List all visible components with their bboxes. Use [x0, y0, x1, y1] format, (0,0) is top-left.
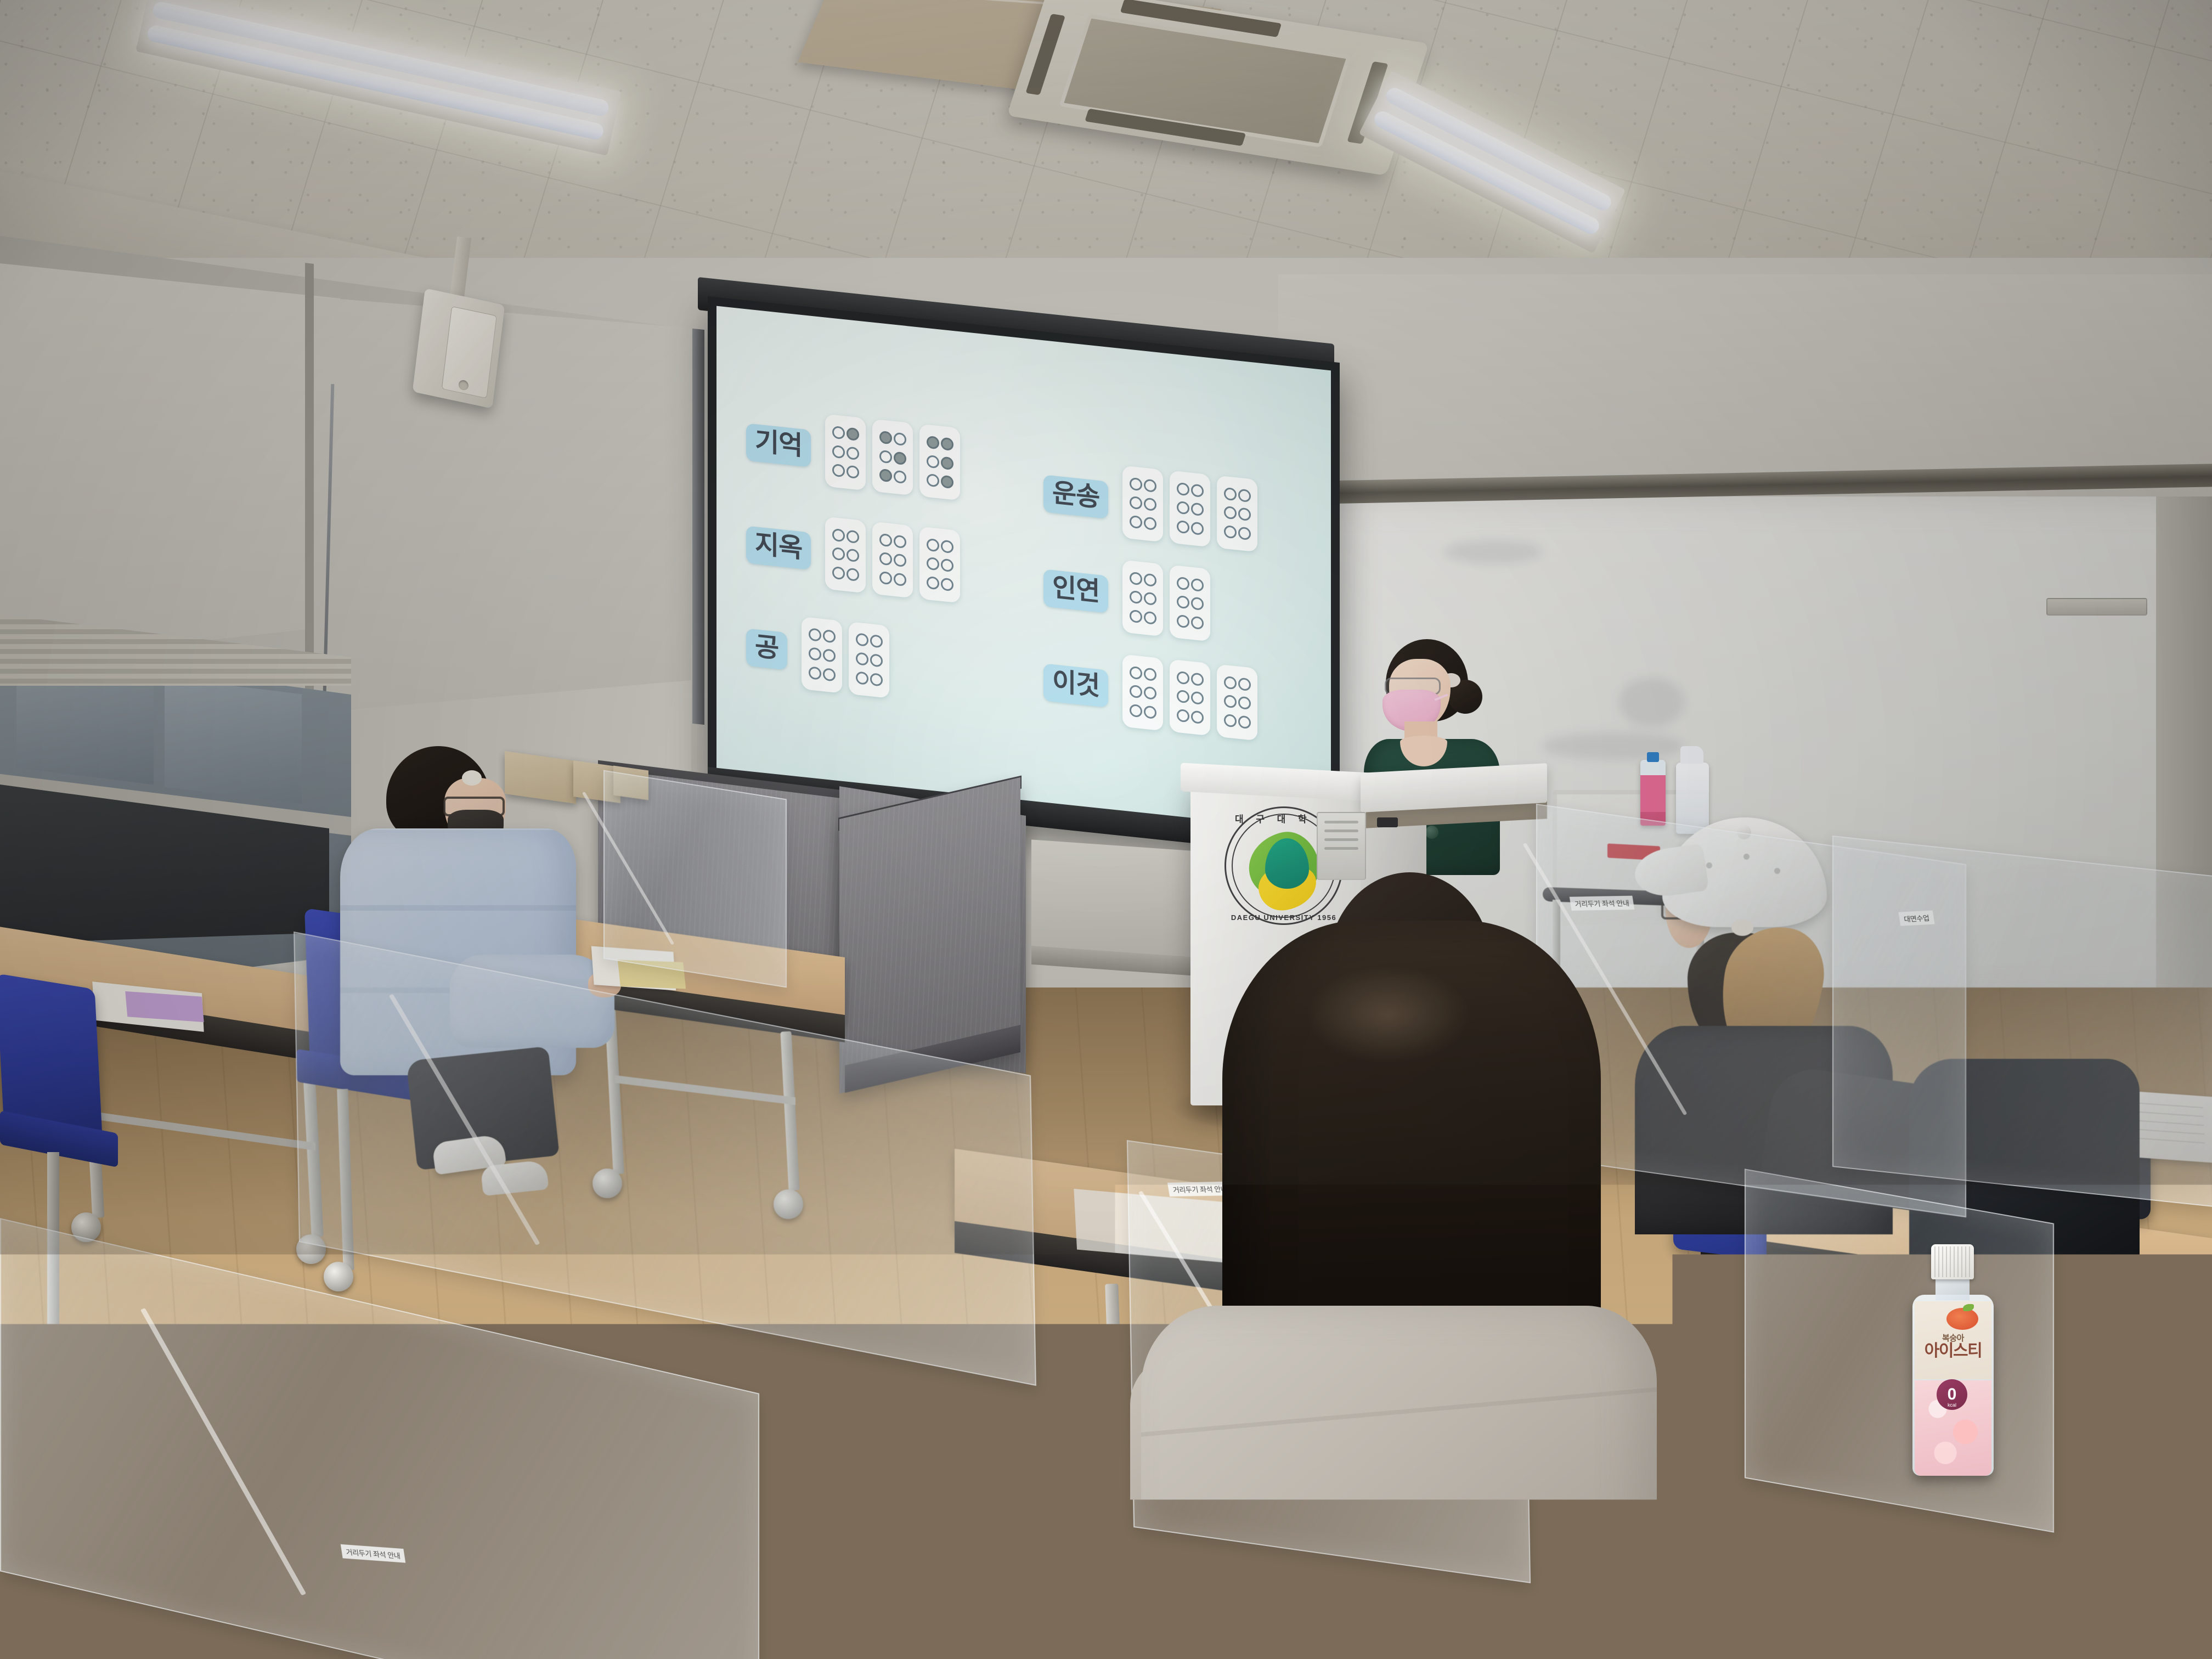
sanitizer-nozzle[interactable]: [1680, 746, 1703, 764]
braille-dot-5: [847, 549, 859, 562]
braille-dot-5: [1191, 503, 1204, 516]
braille-dot-2: [1130, 590, 1142, 604]
word-label: 인연: [1043, 569, 1108, 613]
braille-dot-5: [1144, 686, 1156, 700]
braille-dot-3: [1130, 704, 1142, 718]
braille-dot-2: [1177, 595, 1189, 609]
braille-dot-5: [847, 446, 859, 460]
braille-dot-3: [1224, 714, 1237, 727]
braille-dot-5: [1144, 592, 1156, 606]
divider-label: 거리두기 좌석 안내: [341, 1544, 405, 1563]
kcal-badge: 0 kcal: [1937, 1379, 1967, 1410]
panel-vent: [1324, 830, 1358, 832]
braille-dot-6: [941, 475, 953, 489]
braille-dot-1: [1130, 572, 1142, 585]
braille-dot-4: [1238, 677, 1251, 691]
braille-dot-2: [832, 547, 845, 561]
braille-dot-5: [894, 554, 906, 567]
braille-dot-5: [894, 451, 906, 465]
braille-dot-4: [1191, 483, 1204, 497]
braille-dot-3: [856, 671, 868, 685]
braille-cell: [825, 517, 866, 594]
braille-dot-2: [1177, 690, 1189, 703]
braille-dot-2: [879, 552, 892, 566]
cardigan-brooch: [1425, 826, 1438, 839]
braille-dot-1: [1224, 487, 1237, 501]
braille-dot-1: [1177, 577, 1189, 590]
braille-dot-5: [1238, 507, 1251, 521]
braille-dot-3: [1224, 525, 1237, 539]
braille-cell: [825, 414, 866, 491]
bottle-neck: [1936, 1276, 1970, 1300]
braille-dot-5: [1191, 691, 1204, 705]
slide-column-right: 운송: [1024, 431, 1301, 746]
braille-dot-5: [941, 558, 953, 572]
braille-dot-1: [1130, 666, 1142, 680]
brand-logo-icon: [1946, 1308, 1978, 1330]
braille-dot-5: [1191, 597, 1204, 611]
braille-dot-2: [832, 445, 845, 459]
braille-cell: [919, 527, 960, 603]
braille-dot-3: [927, 576, 939, 590]
braille-cell: [1170, 565, 1210, 642]
word-label: 공: [746, 628, 787, 670]
panel-vent: [1324, 838, 1358, 841]
slide-column-left: 기억: [746, 402, 1024, 716]
braille-dot-3: [927, 473, 939, 487]
braille-dot-4: [847, 427, 859, 441]
braille-dot-3: [1177, 520, 1189, 534]
pink-bottle[interactable]: [1640, 760, 1666, 826]
braille-dot-2: [1224, 695, 1237, 708]
braille-dot-6: [894, 470, 906, 484]
braille-dot-2: [856, 652, 868, 665]
braille-dot-2: [1130, 685, 1142, 698]
braille-cell: [1122, 654, 1163, 731]
braille-dot-2: [927, 455, 939, 469]
acrylic-divider: [603, 770, 787, 988]
braille-dot-6: [1238, 715, 1251, 729]
braille-dot-5: [1144, 498, 1156, 511]
braille-dot-3: [1177, 709, 1189, 723]
braille-dot-2: [1224, 506, 1237, 520]
braille-dot-6: [1191, 616, 1204, 630]
braille-dot-6: [1191, 522, 1204, 535]
braille-dot-5: [870, 653, 883, 667]
wall-speaker-icon: [413, 288, 505, 408]
braille-row-giok: 기억: [746, 406, 1024, 507]
acrylic-glint: [140, 1308, 306, 1595]
braille-cell: [1170, 659, 1210, 736]
braille-cell-group: [1122, 654, 1257, 741]
braille-dot-1: [1224, 676, 1237, 690]
left-wall-panel-secondary: [307, 296, 691, 713]
braille-dot-4: [941, 437, 953, 451]
student-coat: [1141, 1306, 1657, 1659]
braille-dot-1: [1130, 477, 1142, 491]
acrylic-divider: 대면수업: [1832, 836, 2212, 1207]
braille-row-inyeon: 인연: [1043, 551, 1301, 651]
braille-cell-group: [1122, 465, 1257, 552]
braille-cell: [849, 622, 889, 698]
divider-label: 대면수업: [1898, 910, 1934, 926]
braille-dot-3: [879, 571, 892, 585]
braille-dot-4: [894, 534, 906, 548]
braille-dot-3: [1130, 610, 1142, 623]
braille-cell: [872, 419, 913, 496]
window-pane: [165, 678, 302, 804]
word-label: 기억: [746, 424, 811, 467]
braille-row-igeot: 이것: [1043, 646, 1301, 745]
braille-dot-3: [832, 464, 845, 477]
braille-cell: [1170, 471, 1210, 548]
whiteboard-smudge: [1542, 732, 1684, 760]
screen-roller-edge: [692, 329, 704, 725]
wall-panel-divider: [305, 263, 314, 703]
hair-highlight: [1306, 966, 1470, 1064]
braille-cell: [802, 617, 842, 693]
bottle-title: 아이스티: [1915, 1343, 1991, 1359]
braille-dot-1: [1177, 671, 1189, 685]
word-label: 이것: [1043, 663, 1108, 707]
braille-dot-5: [941, 456, 953, 470]
podium-control-panel[interactable]: [1317, 812, 1366, 880]
braille-dot-1: [927, 436, 939, 449]
braille-dot-6: [870, 673, 883, 686]
projected-slide: 기억: [716, 306, 1331, 843]
braille-cell-group: [825, 414, 960, 501]
braille-dot-3: [809, 666, 821, 680]
braille-dot-2: [809, 647, 821, 661]
braille-dot-4: [823, 630, 836, 644]
wall-fixture-notch: [2046, 598, 2147, 616]
braille-dot-2: [879, 450, 892, 464]
podium-button[interactable]: [1377, 817, 1398, 827]
braille-dot-1: [856, 633, 868, 647]
braille-dot-6: [1144, 611, 1156, 625]
whiteboard-smudge: [1618, 678, 1684, 727]
braille-dot-2: [1177, 501, 1189, 515]
word-label: 운송: [1043, 475, 1108, 518]
braille-cell-group: [802, 617, 889, 698]
braille-dot-6: [847, 568, 859, 582]
braille-dot-6: [823, 668, 836, 681]
braille-cell: [919, 424, 960, 501]
student-foreground-center: [1141, 872, 1668, 1659]
bottle-cap: [1647, 752, 1659, 762]
braille-dot-2: [1130, 496, 1142, 510]
chair-caster: [324, 1262, 353, 1291]
braille-row-gong: 공: [746, 611, 1024, 712]
braille-dot-3: [1130, 515, 1142, 529]
braille-dot-4: [1191, 672, 1204, 686]
kcal-unit: kcal: [1948, 1403, 1956, 1408]
hair-tie: [462, 770, 482, 786]
braille-cell: [1217, 664, 1257, 741]
braille-dot-1: [832, 528, 845, 542]
slide-grid: 기억: [716, 306, 1331, 843]
desk-caster: [1091, 1459, 1120, 1489]
panel-vent: [1324, 847, 1358, 850]
braille-cell: [1217, 476, 1257, 552]
braille-cell: [872, 522, 913, 599]
braille-dot-5: [1238, 696, 1251, 710]
braille-dot-6: [894, 573, 906, 586]
braille-row-unsong: 운송: [1043, 457, 1301, 556]
classroom-photo: 기억: [0, 0, 2212, 1659]
braille-dot-6: [1144, 517, 1156, 531]
braille-dot-1: [832, 426, 845, 439]
word-label: 지옥: [746, 526, 811, 569]
braille-dot-4: [1144, 667, 1156, 681]
braille-dot-4: [941, 539, 953, 553]
braille-dot-4: [1191, 578, 1204, 591]
speaker-cone: [442, 306, 497, 398]
braille-dot-1: [809, 628, 821, 642]
braille-cell: [1122, 465, 1163, 542]
braille-dot-4: [847, 529, 859, 543]
braille-dot-6: [941, 578, 953, 591]
iced-tea-bottle[interactable]: 복숭아 아이스티 0 kcal: [1908, 1244, 1996, 1480]
braille-dot-6: [1144, 706, 1156, 719]
acrylic-glint: [389, 994, 540, 1245]
braille-dot-6: [1191, 710, 1204, 724]
braille-dot-4: [870, 635, 883, 648]
braille-dot-3: [832, 566, 845, 580]
braille-dot-4: [1238, 488, 1251, 502]
braille-dot-3: [1177, 614, 1189, 628]
kcal-value: 0: [1948, 1386, 1957, 1403]
braille-cell-group: [825, 517, 960, 603]
braille-dot-6: [847, 465, 859, 479]
braille-cell: [1122, 560, 1163, 636]
braille-dot-1: [879, 431, 892, 444]
braille-dot-1: [1177, 482, 1189, 496]
braille-dot-2: [927, 557, 939, 571]
braille-dot-1: [879, 533, 892, 547]
panel-vent: [1324, 821, 1358, 823]
braille-row-jiok: 지옥: [746, 508, 1024, 610]
braille-dot-3: [879, 469, 892, 482]
braille-dot-4: [1144, 573, 1156, 586]
bottle-cap[interactable]: [1931, 1244, 1974, 1279]
left-wall-panel: [0, 263, 340, 664]
acrylic-divider: [1745, 1169, 2054, 1532]
braille-dot-6: [1238, 527, 1251, 540]
whiteboard-smudge: [1443, 540, 1542, 563]
braille-dot-5: [823, 648, 836, 662]
braille-dot-4: [894, 432, 906, 446]
braille-dot-1: [927, 538, 939, 552]
braille-dot-4: [1144, 478, 1156, 492]
braille-cell-group: [1122, 560, 1210, 641]
